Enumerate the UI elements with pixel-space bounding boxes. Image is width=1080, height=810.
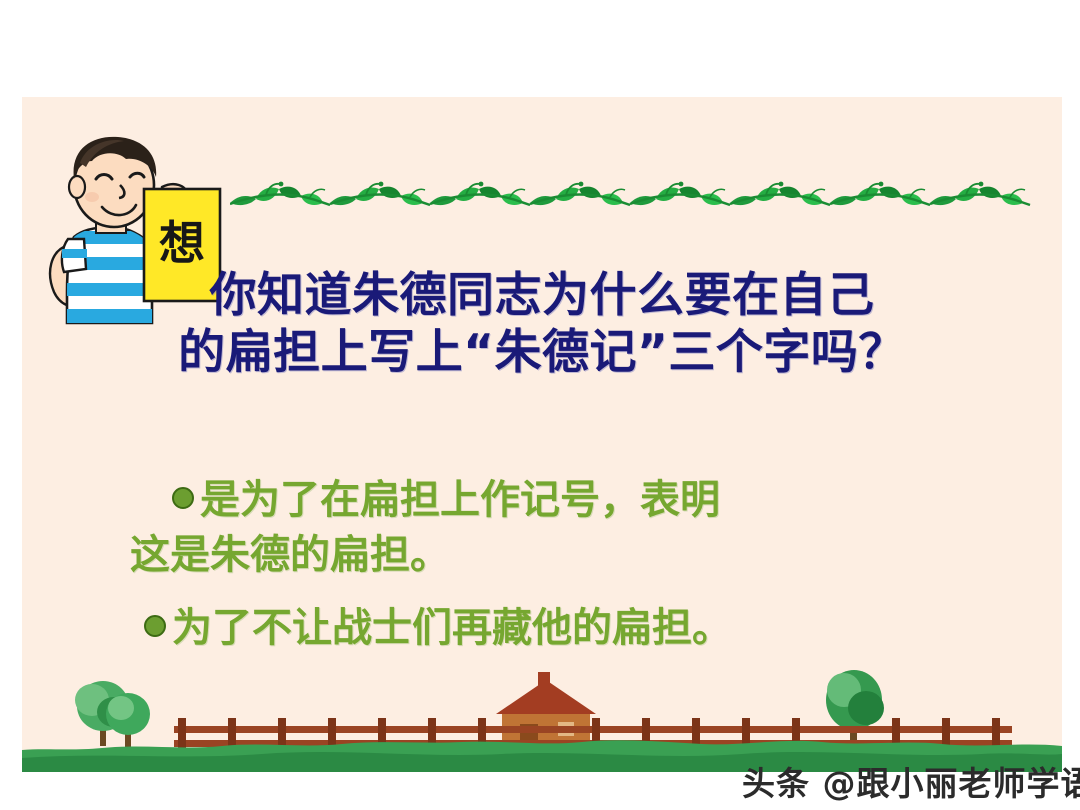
tree-icon [826,670,884,750]
watermark-text: 头条 @跟小丽老师学语文 [742,757,1080,805]
answer-line: 为了不让战士们再藏他的扁担。 [172,604,732,651]
answers-list: 是为了在扁担上作记号，表明 这是朱德的扁担。 为了不让战士们再藏他的扁担。 [172,472,1002,674]
fence-icon [174,718,1012,752]
slide-content-panel: 想 你知道朱德同志为什么要在自己 的扁担上写上“朱德记”三个字吗？ 是为了在扁担… [22,97,1062,772]
answer-line: 这是朱德的扁担。 [130,527,1002,582]
list-item: 是为了在扁担上作记号，表明 这是朱德的扁担。 [172,472,1002,582]
page-title: 你知道朱德同志为什么要在自己 的扁担上写上“朱德记”三个字吗？ [22,267,1062,382]
tree-icon [75,681,131,746]
slide-root: 想 你知道朱德同志为什么要在自己 的扁担上写上“朱德记”三个字吗？ 是为了在扁担… [0,0,1080,810]
list-item: 为了不让战士们再藏他的扁担。 [144,600,1002,655]
ivy-vine-divider-icon [230,179,1035,213]
tree-icon [106,693,150,748]
bullet-dot-icon [172,487,194,509]
sign-character: 想 [159,216,205,270]
house-icon [496,672,596,750]
bullet-dot-icon [144,615,166,637]
answer-line: 是为了在扁担上作记号，表明 [200,476,720,523]
